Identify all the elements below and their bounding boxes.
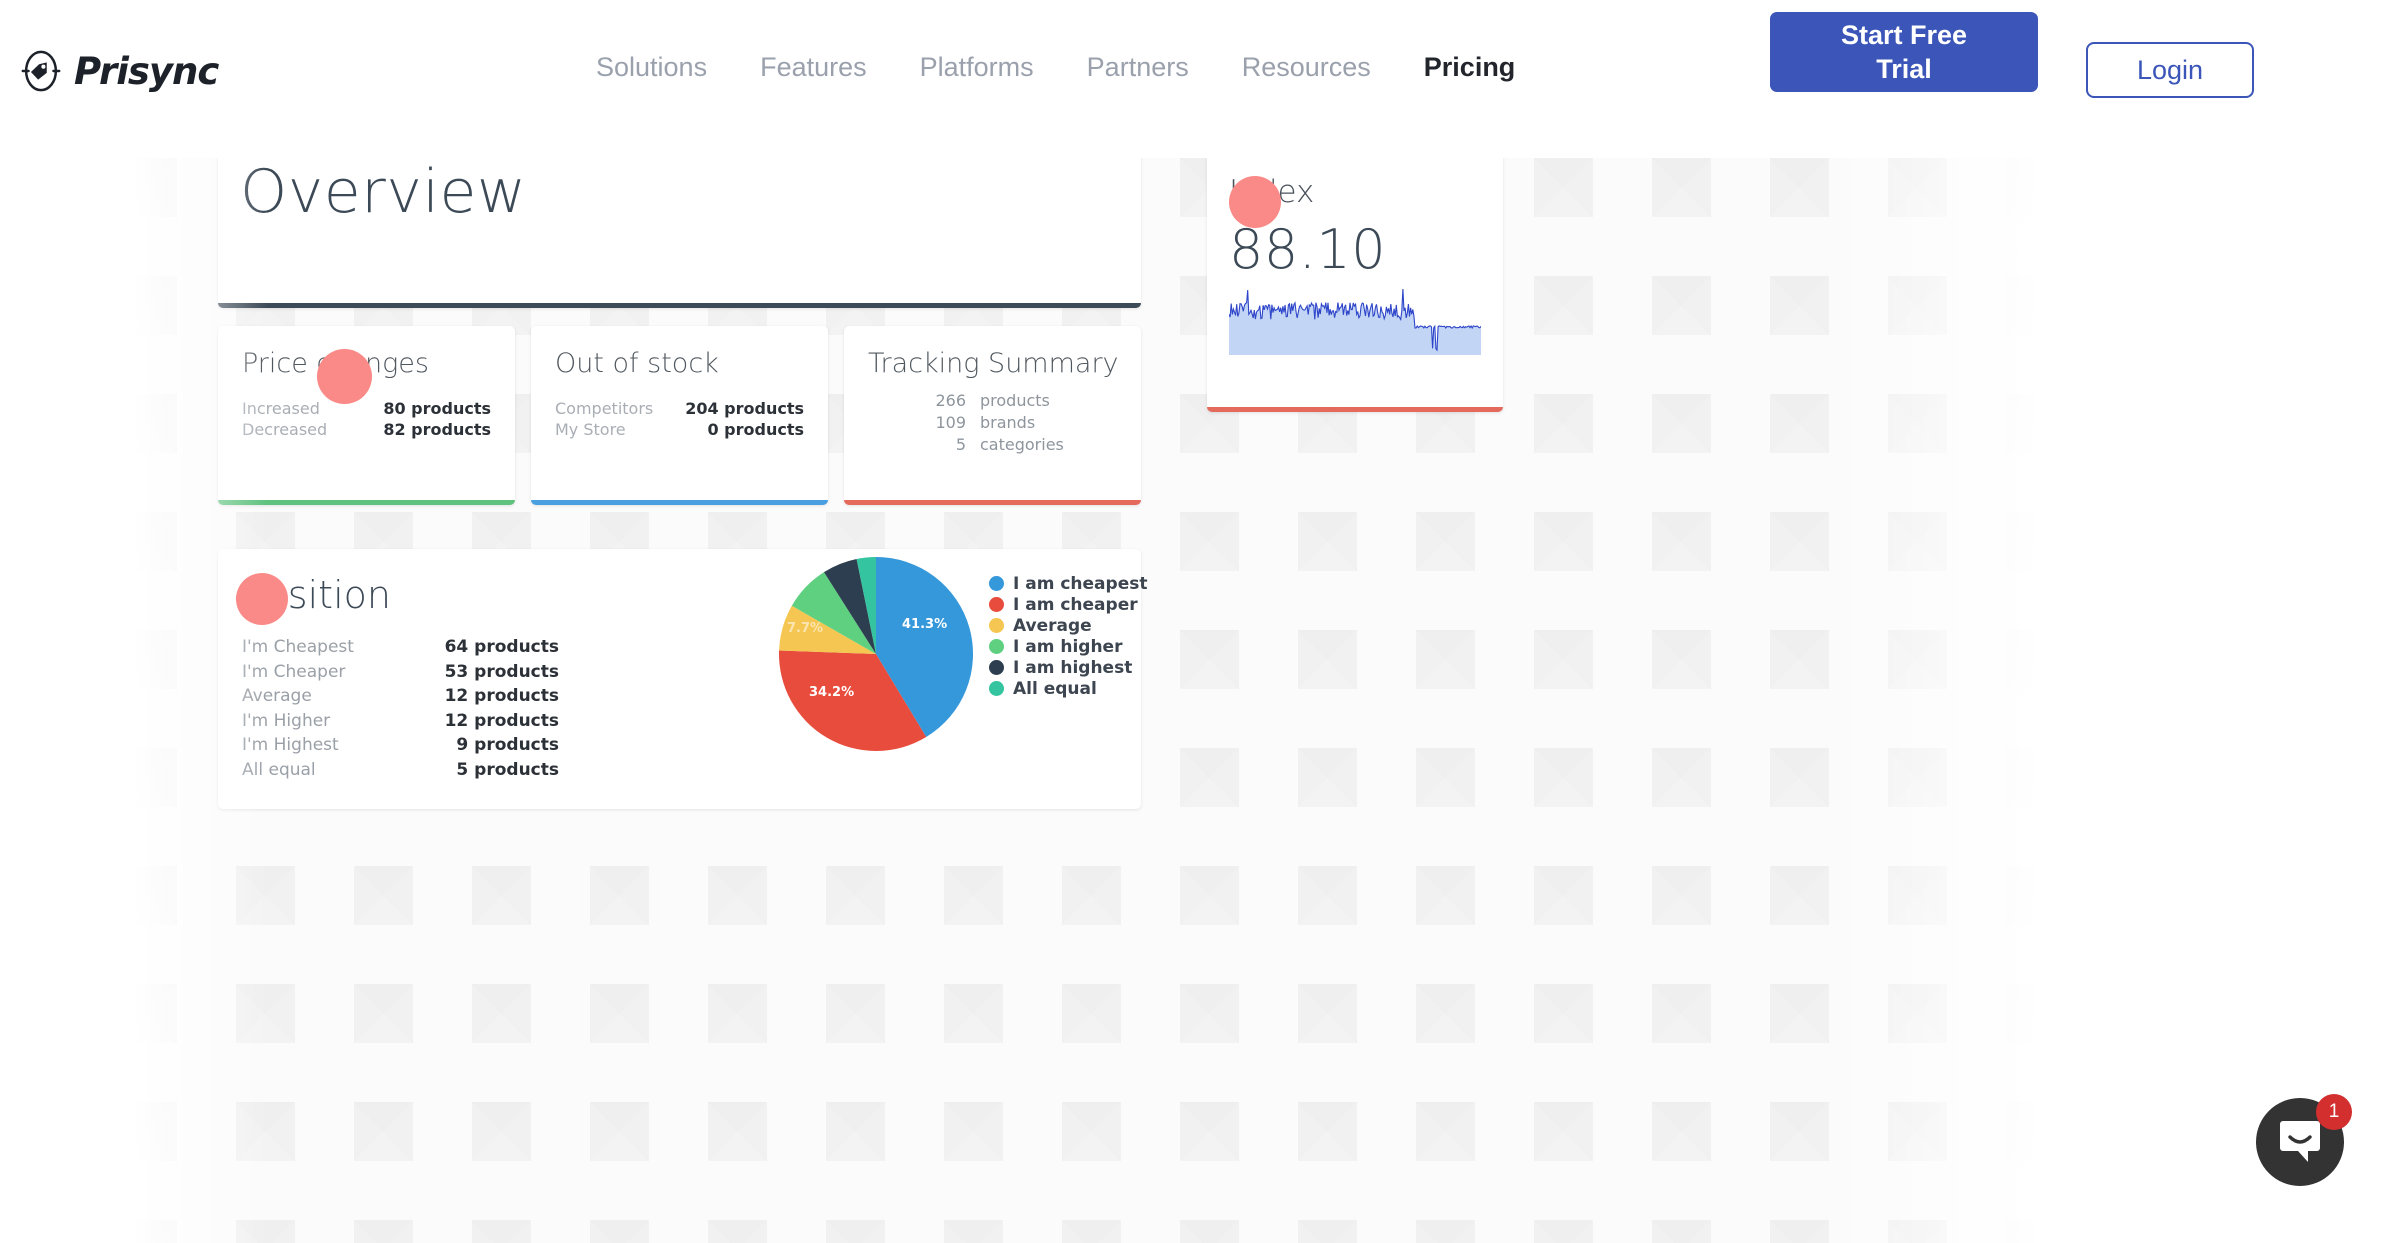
position-pie-chart: 41.3% 34.2% 7.7% I am cheapest I am chea… [771,549,1141,784]
position-value: 12 products [445,684,559,709]
kpi-value: 0 products [707,419,804,440]
overview-card: Overview [218,158,1141,308]
position-value: 5 products [456,758,559,783]
position-row: I'm Cheaper 53 products [242,660,559,685]
legend-item[interactable]: I am cheapest [989,573,1147,594]
annotation-blob-price-changes [317,349,372,404]
legend-label: All equal [1013,679,1097,699]
annotation-blob-index [1229,176,1281,228]
index-sparkline-chart [1229,287,1481,360]
kpi-row: Decreased 82 products [242,419,491,440]
login-button[interactable]: Login [2086,42,2254,98]
position-row: All equal 5 products [242,758,559,783]
legend-color-swatch-icon [989,576,1004,591]
start-free-trial-button[interactable]: Start Free Trial [1770,12,2038,92]
tracking-count: 5 [922,434,966,456]
kpi-row: Increased 80 products [242,398,491,419]
out-of-stock-title: Out of stock [555,348,804,379]
tracking-row: 266 products [922,390,1117,412]
nav-link-resources[interactable]: Resources [1242,52,1371,83]
legend-color-swatch-icon [989,639,1004,654]
tracking-count: 266 [922,390,966,412]
primary-nav-links: Solutions Features Platforms Partners Re… [596,52,1515,83]
position-rows: I'm Cheapest 64 products I'm Cheaper 53 … [242,635,559,782]
legend-color-swatch-icon [989,681,1004,696]
screenshot-fade-right [1825,158,2155,1243]
nav-link-pricing[interactable]: Pricing [1424,52,1516,83]
legend-item[interactable]: I am higher [989,636,1147,657]
page-body: Overview Price changes Increased 80 prod… [0,158,2394,1243]
legend-label: I am highest [1013,658,1132,678]
pie-legend: I am cheapest I am cheaper Average I am … [989,573,1147,699]
legend-item[interactable]: I am highest [989,657,1147,678]
kpi-row: My Store 0 products [555,419,804,440]
brand-name: Prisync [74,50,218,93]
position-row: I'm Cheapest 64 products [242,635,559,660]
unread-count-badge: 1 [2316,1094,2352,1130]
annotation-blob-position [236,573,288,625]
index-value: 88.10 [1229,218,1481,281]
kpi-row: Competitors 204 products [555,398,804,419]
legend-item[interactable]: I am cheaper [989,594,1147,615]
legend-label: I am cheapest [1013,574,1147,594]
kpi-label: Competitors [555,398,653,419]
tracking-label: brands [980,412,1035,434]
brand-logo[interactable]: Prisync [18,48,218,94]
position-row: Average 12 products [242,684,559,709]
kpi-value: 204 products [685,398,804,419]
tracking-count: 109 [922,412,966,434]
kpi-value: 82 products [383,419,491,440]
position-row: I'm Higher 12 products [242,709,559,734]
tracking-summary-rows: 266 products 109 brands 5 categories [868,390,1117,456]
kpi-value: 80 products [383,398,491,419]
tracking-label: categories [980,434,1064,456]
page-title: Overview [240,158,526,227]
legend-color-swatch-icon [989,660,1004,675]
tracking-label: products [980,390,1050,412]
nav-link-partners[interactable]: Partners [1087,52,1189,83]
price-tag-circle-icon [18,48,64,94]
screenshot-fade-left [118,158,268,1243]
legend-item[interactable]: Average [989,615,1147,636]
pie-slices [776,554,976,754]
price-changes-rows: Increased 80 products Decreased 82 produ… [242,398,491,440]
out-of-stock-card: Out of stock Competitors 204 products My… [531,326,828,505]
position-value: 64 products [445,635,559,660]
tracking-row: 5 categories [922,434,1117,456]
nav-link-platforms[interactable]: Platforms [920,52,1034,83]
tracking-summary-card: Tracking Summary 266 products 109 brands… [844,326,1141,505]
dashboard-screenshot: Overview Price changes Increased 80 prod… [118,158,2155,1243]
out-of-stock-rows: Competitors 204 products My Store 0 prod… [555,398,804,440]
tracking-row: 109 brands [922,412,1117,434]
position-card: Position I'm Cheapest 64 products I'm Ch… [218,549,1141,809]
position-row: I'm Highest 9 products [242,733,559,758]
intercom-chat-launcher[interactable]: 1 [2256,1098,2344,1186]
legend-label: Average [1013,616,1092,636]
nav-link-solutions[interactable]: Solutions [596,52,707,83]
nav-link-features[interactable]: Features [760,52,867,83]
position-value: 9 products [456,733,559,758]
top-navigation-bar: Prisync Solutions Features Platforms Par… [0,0,2394,158]
legend-label: I am higher [1013,637,1122,657]
legend-color-swatch-icon [989,597,1004,612]
legend-item[interactable]: All equal [989,678,1147,699]
legend-color-swatch-icon [989,618,1004,633]
position-value: 12 products [445,709,559,734]
kpi-label: My Store [555,419,626,440]
tracking-summary-title: Tracking Summary [868,348,1117,379]
legend-label: I am cheaper [1013,595,1138,615]
position-value: 53 products [445,660,559,685]
